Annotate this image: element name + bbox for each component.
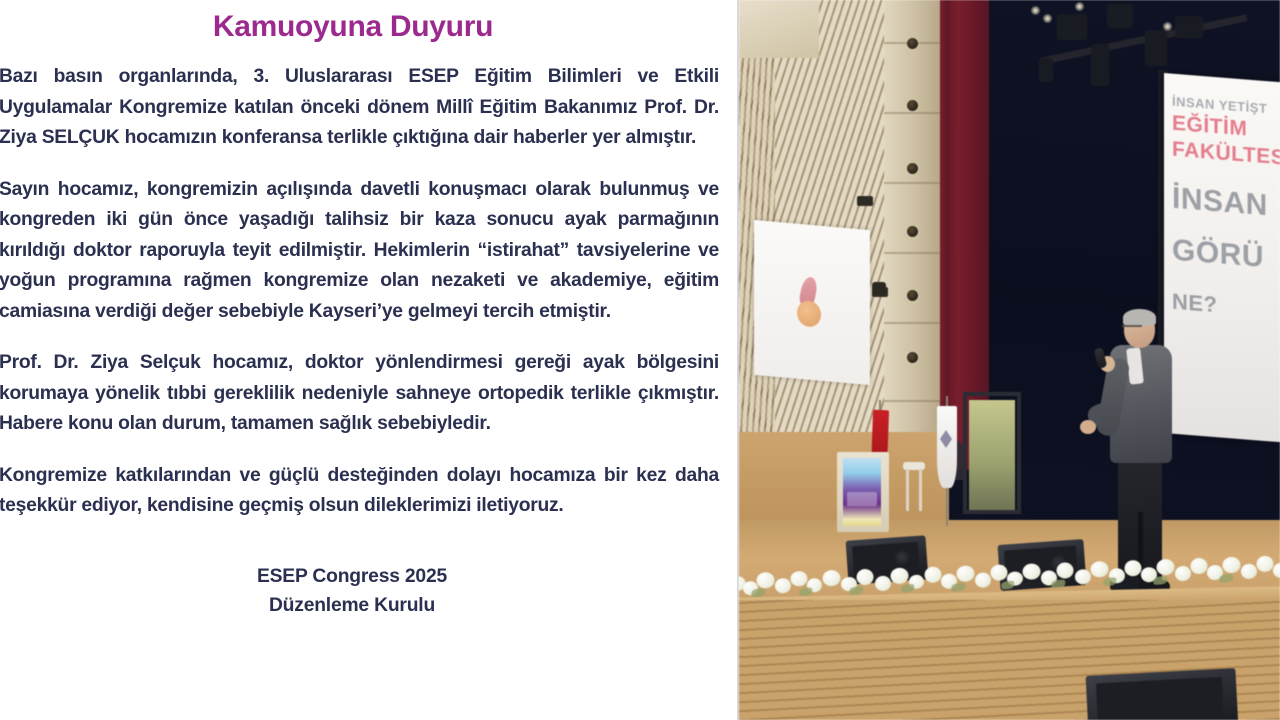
side-table xyxy=(903,462,925,512)
signature-line-1: ESEP Congress 2025 xyxy=(0,562,705,591)
paragraph-3: Prof. Dr. Ziya Selçuk hocamız, doktor yö… xyxy=(0,348,719,440)
document-title: Kamuoyuna Duyuru xyxy=(0,0,727,43)
stage-doorframe xyxy=(963,392,1021,514)
speaker-far-hand xyxy=(1080,420,1096,434)
light-glow xyxy=(1075,2,1084,11)
slide-line-2: EĞİTİM xyxy=(1172,112,1247,142)
glasses-icon xyxy=(1122,325,1142,330)
wall-bracket xyxy=(857,196,873,206)
news-graphic-screen: Kamuoyuna Duyuru Bazı basın organlarında… xyxy=(0,0,1280,720)
paragraph-1: Bazı basın organlarında, 3. Uluslararası… xyxy=(0,62,719,154)
slide-line-5: GÖRÜ xyxy=(1172,234,1264,275)
document-body: Bazı basın organlarında, 3. Uluslararası… xyxy=(0,62,727,620)
light-glow xyxy=(1043,14,1052,23)
stage-light-icon xyxy=(1057,14,1087,40)
ceiling-bevel xyxy=(739,0,819,58)
projection-screen-side xyxy=(754,220,870,385)
signature-block: ESEP Congress 2025 Düzenleme Kurulu xyxy=(0,562,719,620)
stage-light-icon xyxy=(1107,4,1133,28)
lectern-banner xyxy=(843,458,881,526)
paragraph-4: Kongremize katkılarından ve güçlü desteğ… xyxy=(0,461,719,522)
stage-light-icon xyxy=(1091,44,1109,86)
stage-light-icon xyxy=(1175,16,1203,38)
downlight-icon xyxy=(907,352,918,363)
speaker-hair xyxy=(1123,309,1156,326)
stage-light-icon xyxy=(1145,30,1167,66)
wall-camera-icon xyxy=(872,282,886,295)
microphone-icon xyxy=(1094,347,1108,369)
downlight-icon xyxy=(907,163,918,174)
conference-stage-photo: İNSAN YETİŞT EĞİTİM FAKÜLTES İNSAN GÖRÜ … xyxy=(739,0,1280,720)
signature-line-2: Düzenleme Kurulu xyxy=(0,591,705,620)
light-glow xyxy=(1031,6,1040,15)
light-glow xyxy=(1163,22,1172,31)
downlight-icon xyxy=(907,290,918,301)
lectern xyxy=(837,452,889,532)
downlight-icon xyxy=(907,226,918,237)
document-content: Kamuoyuna Duyuru Bazı basın organlarında… xyxy=(0,0,737,620)
downlight-icon xyxy=(907,38,918,49)
press-statement-panel: Kamuoyuna Duyuru Bazı basın organlarında… xyxy=(0,0,739,720)
stage-light-icon xyxy=(1039,58,1053,82)
stage-monitor-front xyxy=(1086,668,1239,720)
congress-logo-icon xyxy=(796,276,822,332)
downlight-icon xyxy=(907,100,918,111)
institution-flag xyxy=(937,406,957,488)
paragraph-2: Sayın hocamız, kongremizin açılışında da… xyxy=(0,175,719,328)
slide-line-4: İNSAN xyxy=(1172,182,1268,224)
slide-line-3: FAKÜLTES xyxy=(1172,138,1280,171)
